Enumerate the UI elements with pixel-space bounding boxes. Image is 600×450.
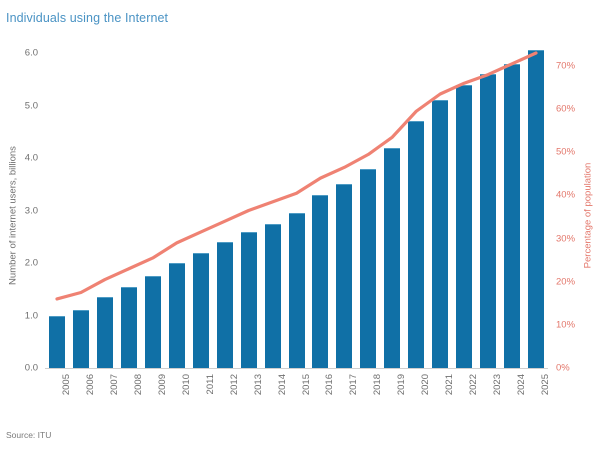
x-tick-2013: 2013 — [253, 374, 264, 395]
x-tick-2021: 2021 — [444, 374, 455, 395]
left-axis-title: Number of internet users, billions — [8, 141, 19, 291]
bar-2024 — [504, 64, 520, 369]
y-tick-right-6: 60% — [556, 104, 575, 115]
bar-2006 — [73, 310, 89, 368]
y-tick-right-1: 10% — [556, 319, 575, 330]
bar-2005 — [49, 316, 65, 369]
y-tick-right-4: 40% — [556, 190, 575, 201]
bar-2010 — [169, 263, 185, 368]
bar-2021 — [432, 100, 448, 368]
x-tick-2020: 2020 — [420, 374, 431, 395]
x-tick-2019: 2019 — [396, 374, 407, 395]
bar-2016 — [312, 195, 328, 368]
x-tick-2017: 2017 — [348, 374, 359, 395]
y-tick-right-2: 20% — [556, 276, 575, 287]
x-tick-2008: 2008 — [133, 374, 144, 395]
bar-2019 — [384, 148, 400, 369]
x-tick-2015: 2015 — [301, 374, 312, 395]
y-tick-left-1: 1.0 — [25, 310, 38, 321]
bar-2009 — [145, 276, 161, 368]
x-tick-2011: 2011 — [205, 374, 216, 394]
bar-2008 — [121, 287, 137, 368]
bar-2018 — [360, 169, 376, 369]
bar-2022 — [456, 85, 472, 369]
bar-2020 — [408, 121, 424, 368]
bar-2007 — [97, 297, 113, 368]
x-tick-2012: 2012 — [229, 374, 240, 395]
y-tick-left-3: 3.0 — [25, 205, 38, 216]
x-tick-2007: 2007 — [109, 374, 120, 395]
chart-container: Individuals using the Internet Number of… — [0, 0, 600, 450]
bar-2017 — [336, 184, 352, 368]
bar-series — [45, 45, 548, 368]
left-axis: Number of internet users, billions 0.01.… — [0, 0, 45, 450]
bar-2023 — [480, 74, 496, 368]
x-tick-2010: 2010 — [181, 374, 192, 395]
bar-2012 — [217, 242, 233, 368]
x-tick-2009: 2009 — [157, 374, 168, 395]
bar-2011 — [193, 253, 209, 369]
x-axis-labels: 2005200620072008200920102011201220132014… — [45, 368, 548, 428]
x-tick-2006: 2006 — [85, 374, 96, 395]
bar-2013 — [241, 232, 257, 369]
x-tick-2025: 2025 — [540, 374, 551, 395]
y-tick-right-5: 50% — [556, 147, 575, 158]
y-tick-right-7: 70% — [556, 60, 575, 71]
x-tick-2016: 2016 — [324, 374, 335, 395]
right-axis-title: Percentage of population — [583, 141, 594, 291]
y-tick-right-0: 0% — [556, 363, 570, 374]
source-note: Source: ITU — [6, 430, 51, 440]
x-tick-2024: 2024 — [516, 374, 527, 395]
y-tick-right-3: 30% — [556, 233, 575, 244]
bar-2025 — [528, 50, 544, 368]
x-tick-2023: 2023 — [492, 374, 503, 395]
x-tick-2018: 2018 — [372, 374, 383, 395]
y-tick-left-0: 0.0 — [25, 363, 38, 374]
y-tick-left-4: 4.0 — [25, 153, 38, 164]
x-tick-2005: 2005 — [61, 374, 72, 395]
x-tick-2022: 2022 — [468, 374, 479, 395]
bar-2015 — [289, 213, 305, 368]
bar-2014 — [265, 224, 281, 368]
x-tick-2014: 2014 — [277, 374, 288, 395]
y-tick-left-2: 2.0 — [25, 258, 38, 269]
y-tick-left-6: 6.0 — [25, 48, 38, 59]
y-tick-left-5: 5.0 — [25, 100, 38, 111]
